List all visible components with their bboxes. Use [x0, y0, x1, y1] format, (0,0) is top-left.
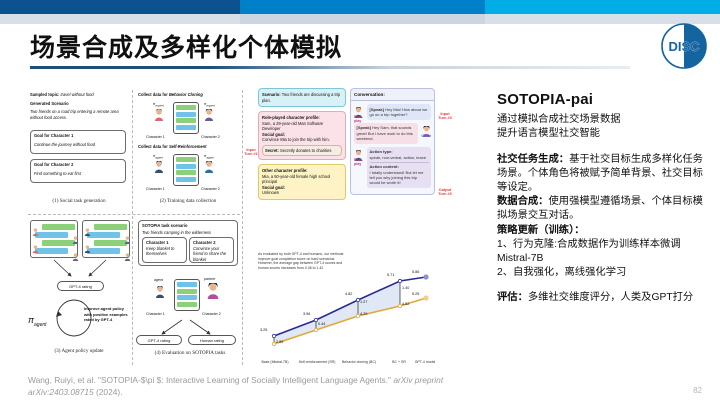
topbar-segment-1	[0, 0, 240, 14]
social-goal-text: Convince Mia to join the trip with him.	[262, 137, 342, 143]
other-profile-card: Other character profile: Mia, a 50-year-…	[258, 164, 346, 200]
agent-sub: agent	[34, 322, 47, 328]
panel2-char1-label-a: Character 1	[146, 135, 165, 139]
citation: Wang, Ruiyi, et al. "SOTOPIA-$\pi $: Int…	[28, 374, 458, 398]
training-item-2: 2、自我强化，离线强化学习	[497, 266, 712, 280]
topbar-segment-2	[240, 0, 485, 14]
action-content-value: I totally understand! But let me tell yo…	[370, 170, 429, 186]
chat-bubble	[176, 157, 196, 162]
panel4-char1-card: Character 1 Keep blanket to themselves	[142, 237, 187, 263]
agent-sub: agent	[206, 156, 214, 160]
block-evaluation: 评估：多维社交维度评分，人类及GPT打分	[497, 291, 712, 305]
panel4-gpt4-rating-pill: GPT-4 rating	[136, 335, 182, 345]
panel4-task-text: Two friends camping in the wilderness	[142, 230, 234, 236]
chat-line	[35, 232, 68, 238]
conversation-panel: Conversation: Role-play [Speak] Hey Mia!…	[350, 88, 435, 195]
output-turn-3-tag: Output Turn #3	[437, 188, 453, 197]
roleplayed-text: Sam, a 29-year-old Man Software Develope…	[262, 121, 342, 132]
secret-label: Secret:	[265, 148, 279, 153]
chart-xtick-4: GPT-4 model	[410, 360, 440, 364]
panel1-goal1-title: Goal for Character 1	[34, 133, 73, 138]
avatar-character2-agent	[204, 160, 214, 172]
topbar-segment-3	[485, 0, 720, 14]
panel3-gpt4-rating-pill: GPT-4 rating	[57, 281, 104, 291]
panel4-char2-card: Character 2 Convince your friend to shar…	[189, 237, 234, 263]
avatar-right	[72, 231, 79, 239]
other-goal-label: Social goal:	[262, 185, 285, 190]
action-type-value: speak, non-verbal, action, leave	[370, 155, 429, 160]
page-number: 82	[693, 386, 702, 395]
panel4-avatar-partner	[206, 283, 220, 299]
panel2-bubble-stack-1	[173, 102, 199, 134]
panel2-s2-name: Self-Reinforcement	[169, 144, 207, 149]
partner-label-text: partner	[204, 277, 215, 281]
panel4-char2-title: Character 2	[193, 240, 216, 245]
chart-xtick-1: Self-reinforcement (SR)	[298, 360, 336, 364]
block-evaluation-label: 评估：	[497, 292, 528, 303]
avatar-character1-expert	[154, 108, 164, 120]
block-evaluation-text: 多维社交维度评分，人类及GPT打分	[528, 292, 693, 303]
citation-part2: (2024).	[94, 387, 123, 397]
disc-logo-text: DISC	[668, 39, 700, 54]
panel2-bubble-stack-2	[173, 154, 199, 186]
conversation-body: Role-play [Speak] Hey Mia! How about we …	[350, 101, 435, 195]
chat-bubble	[176, 125, 196, 130]
chat-bubble	[176, 112, 196, 117]
block-policy-update-label: 策略更新（训练）：	[497, 225, 585, 236]
chart-xtick-2: Behavior cloning (BC)	[340, 360, 378, 364]
panel2-caption: (2) Training data collection	[136, 198, 240, 204]
chart-label-gpt4-1: 3.96	[303, 312, 310, 316]
chat-line	[35, 248, 68, 254]
panel1-goal-card-2: Goal for Character 2 Find something to e…	[30, 159, 126, 183]
panel1-sampled-topic: Sampled topic: travel without food	[30, 92, 126, 98]
panel1-generated-scenario-text: Two friends on a road trip entering a re…	[30, 109, 128, 120]
avatar-left	[32, 223, 39, 231]
panel2-char2-label-a: Character 2	[201, 135, 220, 139]
agent-sub: agent	[155, 156, 163, 160]
social-goal-label: Social goal:	[262, 132, 285, 137]
panel4-char2-label: Character 2	[202, 312, 221, 316]
chart-label-human-0: 2.89	[276, 340, 283, 344]
explanation-panel: SOTOPIA-pai 通过模拟合成社交场景数据 提升语言模型社交智能 社交任务…	[497, 90, 712, 306]
panel4-char2-text: Convince your friend to share the blanke…	[193, 246, 230, 263]
panel4-caption: (4) Evaluation on SOTOPIA tasks	[136, 350, 244, 356]
scenario-label: Scenario:	[262, 92, 281, 97]
roleplayed-profile-card: Role-played character profile: Sam, a 29…	[258, 111, 346, 160]
panel4-task-title: SOTOPIA task scenario	[142, 223, 188, 228]
panel4-char1-title: Character 1	[146, 240, 169, 245]
input-turn-1-tag: Input Turn #1	[243, 148, 259, 157]
panel2-section1-heading: Collect data for Behavior Cloning	[138, 92, 238, 98]
panel1-goal1-text: Continue the journey without food	[34, 142, 122, 148]
panel3-policy-symbol: πagent	[28, 314, 47, 329]
sotopia-heading: SOTOPIA-pai	[497, 90, 712, 111]
panel-divider-vertical-2	[242, 90, 243, 365]
top-decorative-bar	[0, 0, 720, 14]
block-policy-update: 策略更新（训练）：	[497, 224, 712, 238]
avatar-right-2	[124, 248, 131, 256]
panel3-arrows	[26, 258, 136, 282]
avatar-left	[84, 223, 91, 231]
panel1-sampled-topic-label: Sampled topic:	[30, 92, 59, 97]
chart-label-human-3: 4.82	[402, 302, 409, 306]
chat-line	[42, 224, 75, 230]
chat-bubble	[177, 282, 197, 287]
expert-sub: expert	[155, 104, 163, 108]
action-type-label: Action type:	[370, 149, 393, 154]
roleplayed-label: Role-played character profile:	[262, 115, 320, 120]
conversation-message: Action type: speak, non-verbal, action, …	[367, 147, 431, 188]
avatar-right-2	[72, 248, 79, 256]
block-data-synthesis: 数据合成：使用强模型遵循场景、个体目标模拟场景交互对话。	[497, 195, 712, 223]
title-underline	[30, 66, 630, 69]
panel4-bubble-stack	[174, 279, 200, 311]
panel2-agent-label-1: πagent	[153, 154, 163, 160]
disc-logo: DISC	[660, 22, 708, 70]
sotopia-subtitle-1: 通过模拟合成社交场景数据	[497, 113, 712, 127]
chat-line	[42, 240, 75, 246]
chart-label-human-2: 4.29	[360, 312, 367, 316]
secret-card: Secret: Secretly donates to charities	[262, 145, 342, 157]
panel1-goal-card-1: Goal for Character 1 Continue the journe…	[30, 130, 126, 154]
chart-gap-label-2: 1.27	[360, 300, 367, 304]
conversation-message: [Speak] Hey Mia! How about we go on a tr…	[367, 104, 431, 120]
panel1-sampled-topic-value: travel without food	[60, 92, 93, 97]
other-goal-text: Unknown	[262, 190, 342, 196]
panel-divider-horizontal	[28, 214, 240, 215]
block-task-generation: 社交任务生成：基于社交目标生成多样化任务场景。个体角色将被赋予简单背景、社交目标…	[497, 153, 712, 196]
chart-gap-area	[274, 281, 400, 344]
panel4-agent-label: agent	[154, 278, 163, 282]
chart-xtick-0: Base (Mistral-7B)	[258, 360, 292, 364]
avatar-character2-expert	[204, 108, 214, 120]
panel4-human-rating-pill: Human rating	[188, 335, 236, 345]
block-data-synthesis-label: 数据合成：	[497, 196, 548, 207]
chat-line	[94, 240, 127, 246]
speaker-prefix: [Speak]	[357, 125, 371, 130]
panel3-chat-card-1	[30, 220, 78, 258]
action-content-label: Action content:	[370, 164, 399, 169]
scenario-card: Scenario: Two friends are discussing a t…	[258, 88, 346, 107]
sotopia-subtitle-2: 提升语言模型社交智能	[497, 127, 712, 141]
panel2-char2-label-b: Character 2	[201, 187, 220, 191]
chat-line	[87, 248, 120, 254]
chart-label-human-4: 5.25	[412, 292, 419, 296]
avatar-right	[124, 231, 131, 239]
chat-bubble	[177, 302, 197, 307]
other-text: Mia, a 50-year-old female high school pr…	[262, 174, 342, 185]
chart-label-gpt4-0: 3.25	[260, 328, 267, 332]
other-tag: Other	[421, 135, 431, 139]
secret-text: Secretly donates to charities	[280, 148, 331, 153]
panel2-char1-label-b: Character 1	[146, 187, 165, 191]
agent-label-text: agent	[154, 278, 163, 282]
chat-bubble	[177, 289, 197, 294]
scenario-column: Scenario: Two friends are discussing a t…	[258, 88, 346, 204]
panel2-s1-prefix: Collect data for	[138, 92, 169, 97]
chat-bubble	[176, 164, 196, 169]
panel2-expert-label-1: πexpert	[153, 102, 164, 108]
chat-bubble	[176, 118, 196, 123]
chart-label-gpt4-3: 5.71	[387, 273, 394, 277]
citation-part1: Wang, Ruiyi, et al. "SOTOPIA-$\pi $: Int…	[28, 375, 393, 385]
other-label: Other character profile:	[262, 168, 308, 173]
chat-line	[87, 232, 120, 238]
panel2-agent-label-2: πagent	[204, 154, 214, 160]
panel4-task-card: SOTOPIA task scenario Two friends campin…	[138, 220, 238, 266]
conversation-message: [Speak] Hey Sam, that sounds great! But …	[354, 123, 418, 144]
chat-bubble	[177, 295, 197, 300]
panel1-generated-scenario-label: Generated Scenario	[30, 101, 126, 107]
panel3-caption: (3) Agent policy update	[30, 348, 128, 354]
chat-bubble	[176, 177, 196, 182]
chart-gap-label-1: 0.44	[318, 322, 325, 326]
page-title: 场景合成及多样化个体模拟	[30, 28, 342, 64]
block-task-generation-label: 社交任务生成：	[497, 154, 569, 165]
chat-line	[94, 224, 127, 230]
panel4-avatar-agent	[155, 285, 165, 297]
panel2-expert-label-2: πexpert	[204, 102, 215, 108]
conversation-title: Conversation:	[350, 88, 435, 101]
topbar-under-strip-accent	[240, 14, 485, 24]
expert-sub: expert	[206, 104, 214, 108]
chart-svg	[256, 268, 436, 360]
panel1-caption: (1) Social task generation	[30, 198, 128, 204]
chat-bubble	[176, 170, 196, 175]
panel1-goal2-title: Goal for Character 2	[34, 162, 73, 167]
training-item-1: 1、行为克隆:合成数据作为训练样本微调Mistral-7B	[497, 238, 712, 266]
avatar-left-2	[84, 240, 91, 248]
avatar-character1-agent	[154, 160, 164, 172]
panel2-s1-name: Behavior Cloning	[169, 92, 203, 97]
chart-gap-label-3: 1.40	[402, 286, 409, 290]
panel1-goal2-text: Find something to eat first	[34, 171, 122, 177]
panel3-chat-card-2	[82, 220, 130, 258]
panel4-char1-label: Character 1	[146, 312, 165, 316]
input-turn-3-tag: Input Turn #3	[437, 112, 453, 121]
chart-label-gpt4-2: 4.82	[345, 292, 352, 296]
chat-bubble	[176, 105, 196, 110]
panel2-section2-heading: Collect data for Self-Reinforcement	[138, 144, 240, 150]
avatar-left-2	[32, 240, 39, 248]
panel1-gs-label-text: Generated Scenario	[30, 101, 69, 106]
results-chart: As evaluated by both GPT-4 and humans, o…	[256, 262, 436, 370]
roleplay-tag-2: Role-play	[354, 159, 366, 167]
panel4-char1-text: Keep blanket to themselves	[146, 246, 183, 257]
panel4-partner-label: partner	[204, 277, 215, 281]
speaker-prefix: [Speak]	[370, 107, 384, 112]
panel2-s2-prefix: Collect data for	[138, 144, 169, 149]
panel-divider-vertical	[132, 90, 133, 365]
chart-label-gpt4-4: 5.86	[412, 270, 419, 274]
panel3-improve-note: Improve agent policy with positive examp…	[84, 306, 128, 323]
